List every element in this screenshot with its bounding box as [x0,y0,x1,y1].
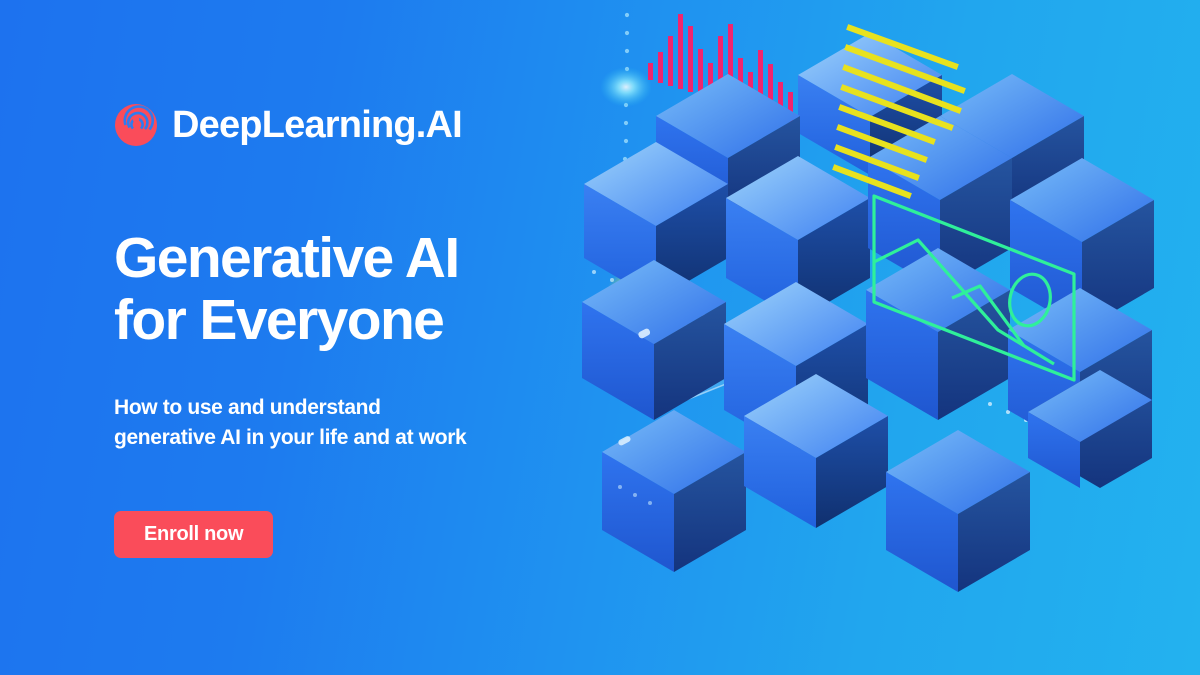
brand-logo[interactable]: DeepLearning.AI [114,103,462,147]
banner-content: DeepLearning.AI Generative AI for Everyo… [114,0,674,675]
page-title: Generative AI for Everyone [114,228,459,351]
page-subtitle: How to use and understand generative AI … [114,393,466,453]
enroll-now-button[interactable]: Enroll now [114,511,273,558]
brand-name: DeepLearning.AI [172,106,462,144]
promo-banner: DeepLearning.AI Generative AI for Everyo… [0,0,1200,675]
cube-block [886,430,1030,592]
cube-block [866,248,1010,420]
deeplearning-ai-logo-icon [114,103,158,147]
